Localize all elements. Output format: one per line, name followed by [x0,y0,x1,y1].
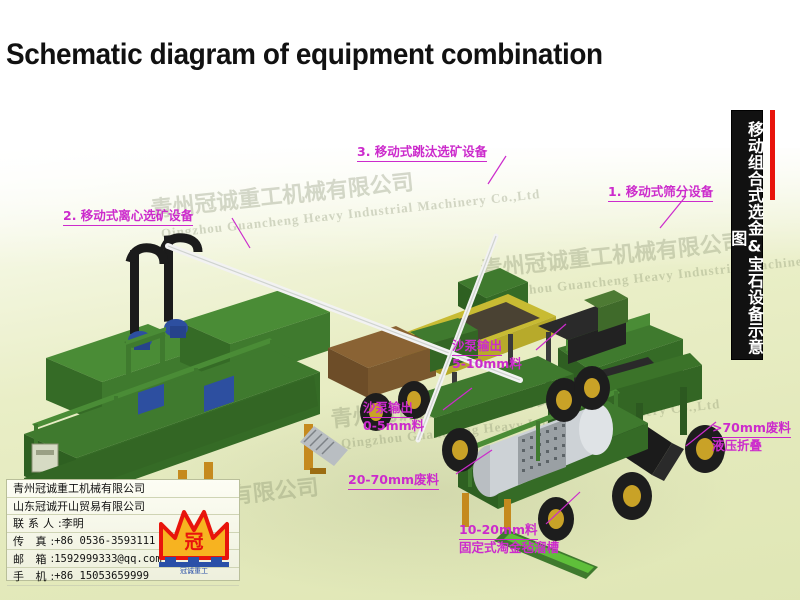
flow-label-waste-over-70: >70mm废料 液压折叠 [712,420,791,453]
equipment-label-2: 2. 移动式离心选矿设备 [63,208,193,226]
flow-label-pump-out-5-10: 沙泵输出 5-10mm料 [452,338,522,371]
svg-text:冠: 冠 [184,531,203,553]
company-name-1: 青州冠诚重工机械有限公司 [7,480,239,498]
vertical-caption-text: 移动组合式选金&宝石设备示意图 [732,111,762,359]
vertical-caption: 移动组合式选金&宝石设备示意图 [731,110,763,360]
equipment-label-1: 1. 移动式筛分设备 [608,184,713,202]
crown-logo: 冠 冠诚重工 [155,498,233,574]
accent-bar [770,110,775,200]
schematic-page: Schematic diagram of equipment combinati… [0,0,800,600]
flow-label-feed-10-20: 10-20mm料 固定式淘金毡溜槽 [459,522,559,555]
flow-label-pump-out-0-5: 沙泵输出 0-5mm料 [363,400,424,433]
contact-card: 青州冠诚重工机械有限公司 山东冠诚开山贸易有限公司 联系人 : 李明 传 真 :… [6,479,240,581]
logo-brand-text: 冠诚重工 [180,566,208,574]
flow-label-waste-20-70: 20-70mm废料 [348,472,439,490]
equipment-label-3: 3. 移动式跳汰选矿设备 [357,144,487,162]
page-title: Schematic diagram of equipment combinati… [6,38,603,72]
